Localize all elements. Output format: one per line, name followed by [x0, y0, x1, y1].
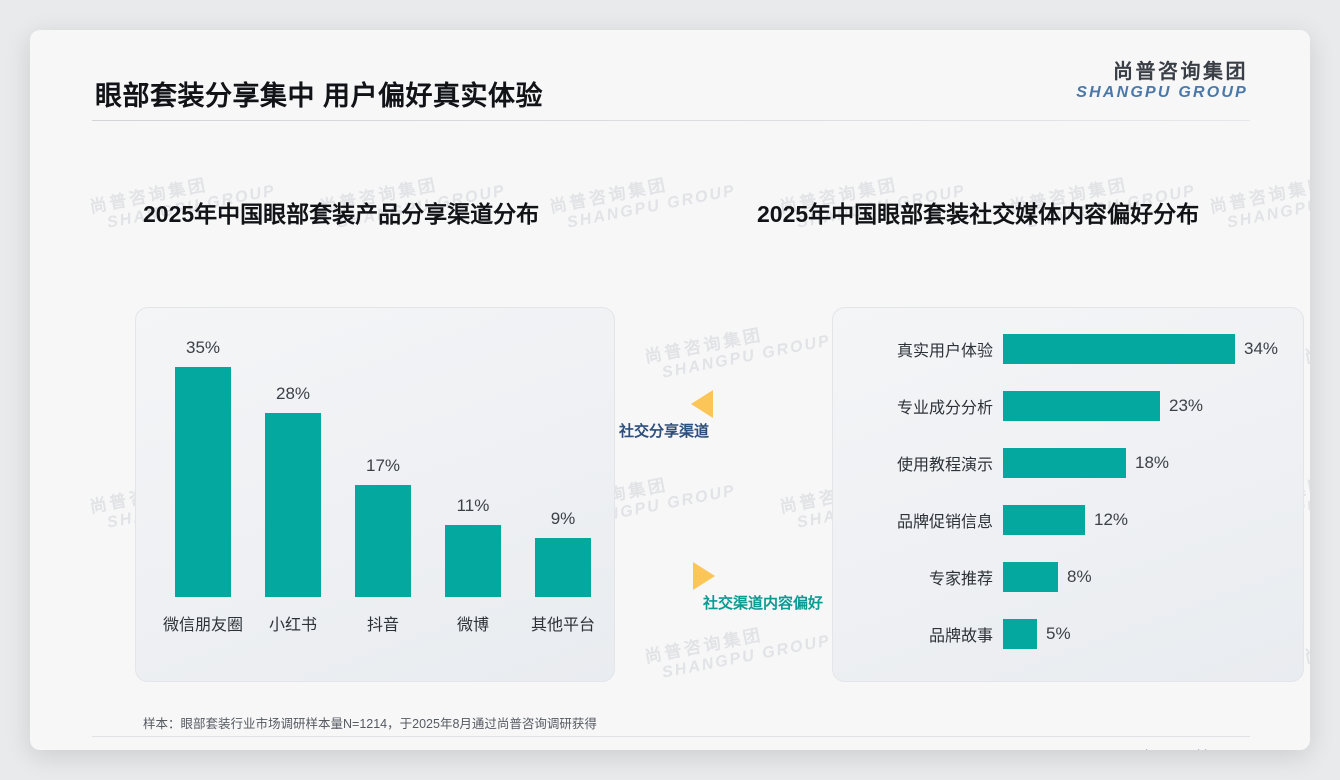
bar-category-label: 使用教程演示 [833, 451, 1003, 475]
footer-website: www.shangpu-china.com [1109, 748, 1248, 750]
bar-fill [1003, 505, 1085, 535]
bar-fill [355, 485, 411, 597]
company-logo: 尚普咨询集团 SHANGPU GROUP [1076, 62, 1248, 101]
sample-note: 样本：眼部套装行业市场调研样本量N=1214，于2025年8月通过尚普咨询调研获… [143, 713, 597, 732]
bar-fill [265, 413, 321, 597]
triangle-right-icon [693, 562, 715, 590]
bar-category-label: 抖音 [338, 611, 428, 635]
bar-value-label: 28% [248, 384, 338, 404]
chart-card-content-preference: 真实用户体验34%专业成分分析23%使用教程演示18%品牌促销信息12%专家推荐… [832, 307, 1304, 682]
vertical-bar-chart: 35%微信朋友圈28%小红书17%抖音11%微博9%其他平台 [136, 308, 614, 681]
bar-category-label: 品牌故事 [833, 622, 1003, 646]
bar-value-label: 11% [428, 496, 518, 516]
bar-row: 真实用户体验34% [833, 334, 1303, 364]
bar-value-label: 9% [518, 509, 608, 529]
bar-value-label: 17% [338, 456, 428, 476]
bar-category-label: 微信朋友圈 [158, 611, 248, 635]
footer-copyright: ©2025.10 SHANGPU GROUP [95, 748, 264, 750]
bar-row: 品牌故事5% [833, 619, 1303, 649]
bar-category-label: 微博 [428, 611, 518, 635]
chart-title-content-preference: 2025年中国眼部套装社交媒体内容偏好分布 [757, 195, 1199, 229]
slide-header: 眼部套装分享集中 用户偏好真实体验 尚普咨询集团 SHANGPU GROUP [30, 30, 1310, 122]
watermark-text: 尚普咨询集团SHANGPU GROUP [1303, 613, 1310, 686]
bar-column: 17%抖音 [338, 456, 428, 597]
bar-row: 品牌促销信息12% [833, 505, 1303, 535]
bar-value-label: 34% [1244, 339, 1278, 359]
bar-column: 35%微信朋友圈 [158, 338, 248, 597]
bar-fill [535, 538, 591, 597]
bar-row: 专业成分分析23% [833, 391, 1303, 421]
footer-divider [92, 736, 1250, 737]
bar-value-label: 12% [1094, 510, 1128, 530]
header-divider [92, 120, 1250, 121]
bar-column: 11%微博 [428, 496, 518, 597]
bar-value-label: 8% [1067, 567, 1092, 587]
bar-fill [175, 367, 231, 597]
bar-category-label: 品牌促销信息 [833, 508, 1003, 532]
bar-value-label: 5% [1046, 624, 1071, 644]
annotation-share-channel: 社交分享渠道 [619, 390, 713, 441]
bar-row: 专家推荐8% [833, 562, 1303, 592]
watermark-text: 尚普咨询集团SHANGPU GROUP [548, 163, 738, 236]
bar-column: 28%小红书 [248, 384, 338, 597]
horizontal-bar-chart: 真实用户体验34%专业成分分析23%使用教程演示18%品牌促销信息12%专家推荐… [833, 308, 1303, 681]
annotation-share-channel-label: 社交分享渠道 [619, 420, 713, 441]
bar-fill [1003, 391, 1160, 421]
bar-category-label: 小红书 [248, 611, 338, 635]
bar-column: 9%其他平台 [518, 509, 608, 597]
bar-value-label: 35% [158, 338, 248, 358]
bar-category-label: 专家推荐 [833, 565, 1003, 589]
watermark-text: 尚普咨询集团SHANGPU GROUP [1208, 163, 1310, 236]
slide: 尚普咨询集团SHANGPU GROUP尚普咨询集团SHANGPU GROUP尚普… [30, 30, 1310, 750]
bar-fill [1003, 448, 1126, 478]
watermark-text: 尚普咨询集团SHANGPU GROUP [643, 613, 833, 686]
bar-fill [1003, 334, 1235, 364]
bar-category-label: 真实用户体验 [833, 337, 1003, 361]
bar-category-label: 其他平台 [518, 611, 608, 635]
bar-value-label: 23% [1169, 396, 1203, 416]
bar-fill [445, 525, 501, 597]
annotation-content-preference-label: 社交渠道内容偏好 [703, 592, 823, 613]
chart-card-share-channel: 35%微信朋友圈28%小红书17%抖音11%微博9%其他平台 [135, 307, 615, 682]
logo-chinese-text: 尚普咨询集团 [1076, 62, 1248, 84]
annotation-content-preference: 社交渠道内容偏好 [689, 562, 823, 613]
watermark-text: 尚普咨询集团SHANGPU GROUP [643, 313, 833, 386]
logo-english-text: SHANGPU GROUP [1076, 84, 1248, 101]
page-title: 眼部套装分享集中 用户偏好真实体验 [95, 74, 543, 113]
bar-value-label: 18% [1135, 453, 1169, 473]
bar-category-label: 专业成分分析 [833, 394, 1003, 418]
bar-row: 使用教程演示18% [833, 448, 1303, 478]
chart-title-share-channel: 2025年中国眼部套装产品分享渠道分布 [143, 195, 539, 229]
watermark-text: 尚普咨询集团SHANGPU GROUP [1303, 313, 1310, 386]
bar-fill [1003, 619, 1037, 649]
bar-fill [1003, 562, 1058, 592]
triangle-left-icon [691, 390, 713, 418]
